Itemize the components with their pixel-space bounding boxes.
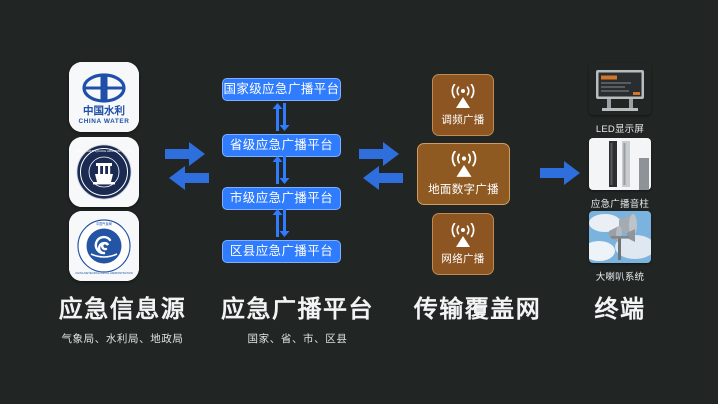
platform-box-county[interactable]: 区县应急广播平台 [222,240,341,263]
speaker-column-thumbnail [589,138,651,190]
platform-link-national-provincial [272,103,292,131]
broadcast-tower-icon [448,84,478,110]
broadcast-tower-icon [447,151,481,179]
svg-text:中国气象局: 中国气象局 [96,221,112,226]
single-arrow-icon [538,160,586,186]
speaker-column-icon [589,138,651,190]
svg-text:CHINA WATER: CHINA WATER [79,118,130,125]
caption-sources: 应急信息源 气象局、水利局、地政局 [35,295,210,346]
transmission-label-terrestrial-digital-broadcast: 地面数字广播 [428,181,499,197]
platform-box-national[interactable]: 国家级应急广播平台 [222,78,341,101]
platform-box-provincial[interactable]: 省级应急广播平台 [222,134,341,157]
caption-terminals-title: 终端 [570,295,670,325]
led-display-thumbnail [589,63,651,115]
horn-loudspeaker-thumbnail [589,211,651,263]
terminal-led-display[interactable]: LED显示屏 [589,63,651,135]
platform-link-municipal-county [272,209,292,237]
svg-text:CHINA METEOROLOGICAL ADMINISTR: CHINA METEOROLOGICAL ADMINISTRATION [75,271,133,275]
transmission-label-fm-broadcast: 调频广播 [441,112,484,127]
platform-link-provincial-municipal [272,156,292,184]
transmission-box-fm-broadcast[interactable]: 调频广播 [432,74,494,136]
caption-sources-sub: 气象局、水利局、地政局 [35,331,210,346]
caption-transmission-title: 传输覆盖网 [395,295,560,325]
caption-platforms-title: 应急广播平台 [205,295,390,325]
terminal-label-speaker-column: 应急广播音柱 [589,196,651,210]
caption-sources-title: 应急信息源 [35,295,210,325]
transmission-box-network-broadcast[interactable]: 网络广播 [432,213,494,275]
source-logo-china-water[interactable]: 中国水利 CHINA WATER 中国水利 [69,62,139,132]
diagram-canvas: 中国水利 CHINA WATER 中国水利 CHINA EARTHQUAKE A… [0,0,718,404]
connector-transmission-to-terminals [538,160,586,186]
terminal-speaker-column[interactable]: 应急广播音柱 [589,138,651,210]
china-water-logo-icon: 中国水利 CHINA WATER [69,62,139,132]
terminal-horn-loudspeaker[interactable]: 大喇叭系统 [589,211,651,283]
terminal-label-horn-loudspeaker: 大喇叭系统 [589,269,651,283]
caption-platforms: 应急广播平台 国家、省、市、区县 [205,295,390,346]
platform-box-municipal[interactable]: 市级应急广播平台 [222,187,341,210]
transmission-box-terrestrial-digital-broadcast[interactable]: 地面数字广播 [417,143,510,205]
broadcast-tower-icon [448,223,478,249]
china-meteorological-administration-logo-icon: 中国气象局 CHINA METEOROLOGICAL ADMINISTRATIO… [69,211,139,281]
transmission-label-network-broadcast: 网络广播 [441,251,484,266]
svg-text:CHINA EARTHQUAKE ADMINISTRATIO: CHINA EARTHQUAKE ADMINISTRATION [75,149,134,153]
connector-sources-to-platforms [163,135,211,197]
svg-text:中国水利: 中国水利 [83,104,125,117]
connector-platforms-to-transmission [357,135,405,197]
vertical-bidirectional-arrows-icon [272,209,292,237]
caption-transmission: 传输覆盖网 [395,295,560,331]
source-logo-china-earthquake[interactable]: CHINA EARTHQUAKE ADMINISTRATION 中国地震局 [69,137,139,207]
caption-platforms-sub: 国家、省、市、区县 [205,331,390,346]
terminal-label-led-display: LED显示屏 [589,121,651,135]
bidirectional-arrows-icon [357,135,405,197]
caption-terminals: 终端 [570,295,670,331]
china-earthquake-administration-logo-icon: CHINA EARTHQUAKE ADMINISTRATION [69,137,139,207]
horn-loudspeaker-icon [589,211,651,263]
led-display-icon [589,63,651,115]
bidirectional-arrows-icon [163,135,211,197]
source-logo-china-meteorological[interactable]: 中国气象局 CHINA METEOROLOGICAL ADMINISTRATIO… [69,211,139,281]
vertical-bidirectional-arrows-icon [272,156,292,184]
vertical-bidirectional-arrows-icon [272,103,292,131]
